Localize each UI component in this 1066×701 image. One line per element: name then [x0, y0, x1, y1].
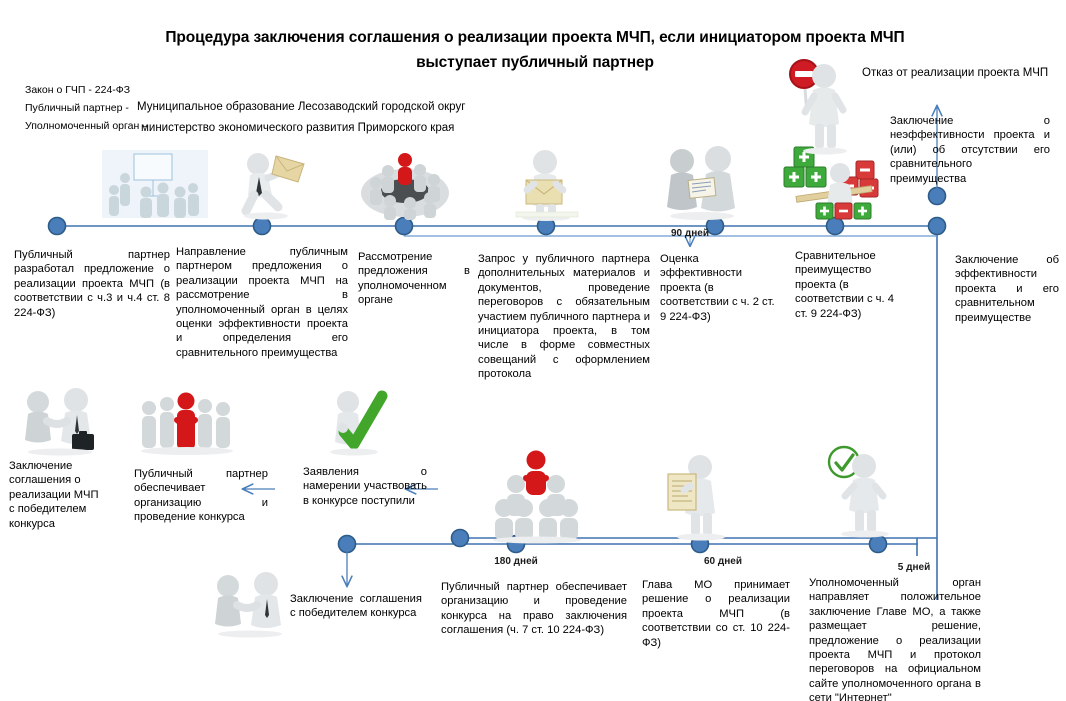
meeting-circle-icon: [358, 145, 452, 220]
row3-step-1-text: Заключение соглашения с победителем конк…: [290, 592, 422, 621]
row3-step-4-text: Уполномоченный орган направляет положите…: [809, 576, 981, 701]
rejection-title: Отказ от реализации проекта МЧП: [862, 66, 1066, 80]
row1-step-6-text: Сравнительное преимущество проекта (в со…: [795, 249, 907, 321]
row2-step-2-text: Публичный партнер обеспечивает организац…: [134, 467, 268, 525]
row2-step-1-text: Заключение соглашения о реализации МЧП с…: [9, 459, 101, 531]
presentation-group-icon: [100, 148, 210, 220]
row3-duration-label-180: 180 дней: [478, 556, 554, 567]
row1-step-2-text: Направление публичным партнером предложе…: [176, 245, 348, 360]
row1-step-4-text: Запрос у публичного партнера дополнитель…: [478, 252, 650, 382]
handshake-small-icon: [204, 572, 294, 638]
crowd-red-leader-icon: [135, 390, 239, 456]
diagram-canvas: Процедура заключения соглашения о реализ…: [0, 0, 1066, 701]
person-document-icon: [660, 452, 732, 540]
legend-authorized-body-label: Уполномоченный орган –: [25, 117, 148, 135]
row3-duration-label-5: 5 дней: [884, 562, 944, 573]
row1-duration-label: 90 дней: [650, 228, 730, 239]
row3-step-3-text: Глава МО принимает решение о реализации …: [642, 578, 790, 650]
stop-sign-person-icon: [780, 58, 852, 156]
balance-blocks-icon: [780, 145, 888, 223]
row1-step-3-text: Рассмотрение предложения в уполномоченно…: [358, 250, 470, 308]
row3-duration-label-60: 60 дней: [688, 556, 758, 567]
page-title-line1: Процедура заключения соглашения о реализ…: [60, 24, 1010, 51]
rejection-conclusion: Заключение о неэффективности проекта и (…: [890, 114, 1050, 186]
running-man-envelope-icon: [232, 150, 308, 220]
row2-step-3-text: Заявления о намерении участвовать в конк…: [303, 465, 427, 508]
legend-authorized-body-value: министерство экономического развития При…: [141, 119, 454, 137]
row3-step-2-text: Публичный партнер обеспечивает организац…: [441, 580, 627, 638]
pyramid-people-icon: [490, 450, 584, 542]
legend-public-partner-label: Публичный партнер -: [25, 99, 129, 117]
checkmark-person-icon: [320, 388, 392, 456]
legend-public-partner-value: Муниципальное образование Лесозаводский …: [137, 98, 465, 116]
row1-step-7-text: Заключение об эффективности проекта и ег…: [955, 253, 1059, 325]
handshake-icon: [14, 388, 106, 456]
person-envelope-icon: [512, 148, 582, 220]
green-check-person-icon: [822, 446, 896, 538]
two-people-document-icon: [660, 145, 744, 220]
legend-law: Закон о ГЧП - 224-ФЗ: [25, 81, 130, 99]
row1-step-5-text: Оценка эффективности проекта (в соответс…: [660, 252, 778, 324]
row1-step-1-text: Публичный партнер разработал предложение…: [14, 248, 170, 320]
